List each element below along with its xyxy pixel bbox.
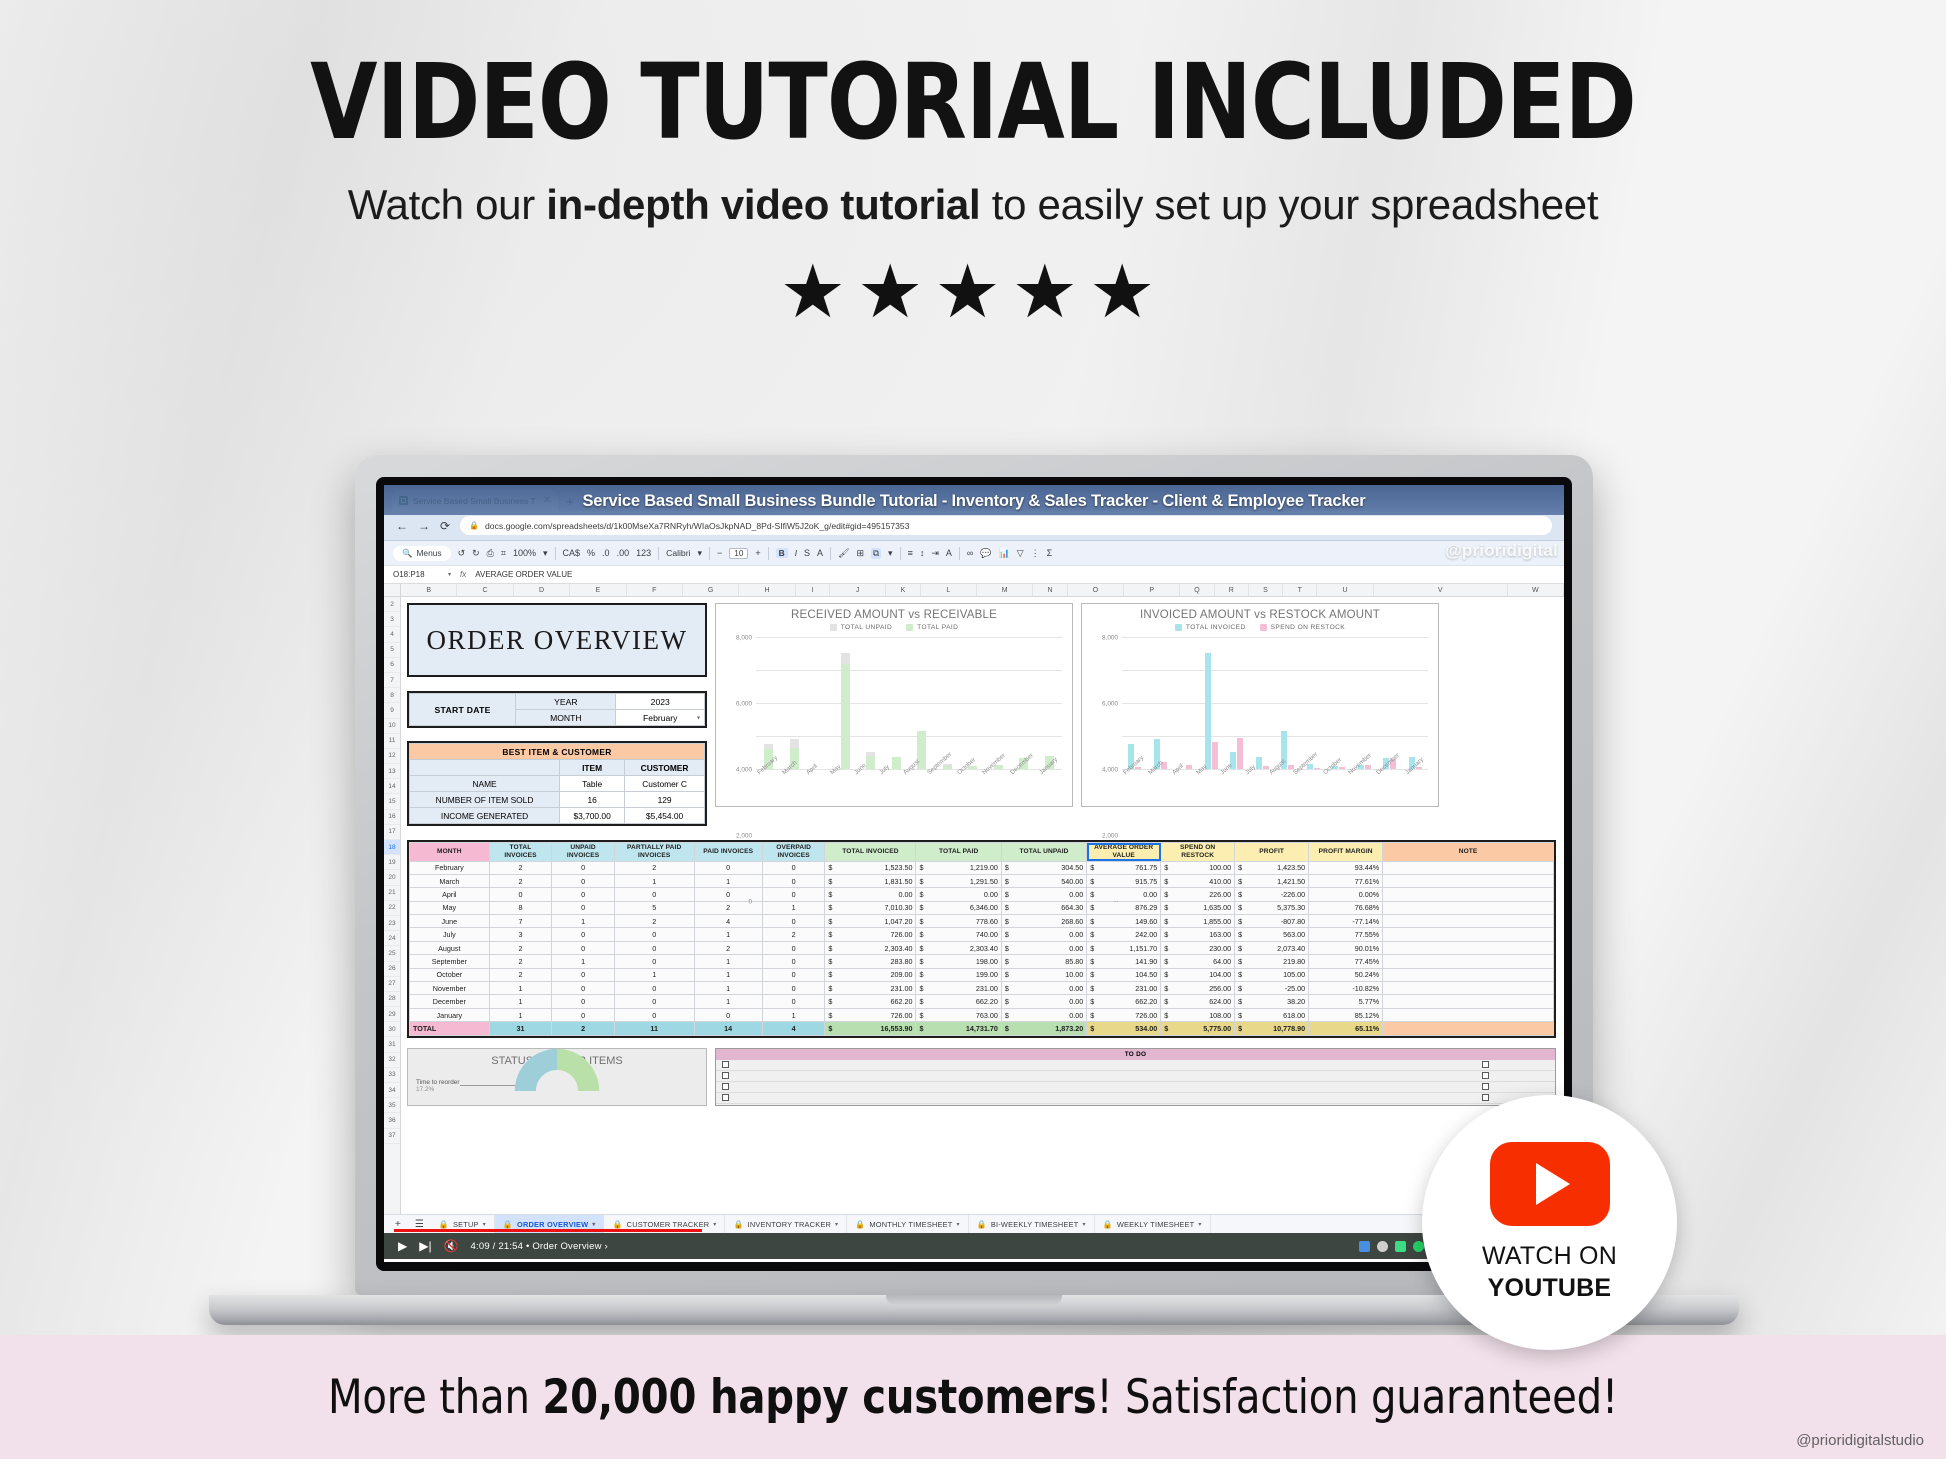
cell-profit[interactable]: -807.80 (1235, 915, 1309, 928)
print-icon[interactable]: ⎙ (487, 548, 494, 559)
cell-partially[interactable]: 2 (614, 915, 694, 928)
cell-aov[interactable]: 104.50 (1087, 968, 1161, 981)
cell-total-unpaid[interactable]: 0.00 (1001, 1008, 1086, 1021)
cell-note[interactable] (1383, 941, 1554, 954)
checkbox-icon[interactable] (1482, 1094, 1489, 1101)
whatsapp-icon[interactable] (1413, 1241, 1424, 1252)
bar-group[interactable] (1122, 637, 1148, 769)
cell-total-invoices[interactable]: 2 (489, 968, 552, 981)
cell-note[interactable] (1383, 1008, 1554, 1021)
cell-total-invoiced[interactable]: 726.00 (825, 928, 916, 941)
row-header-37[interactable]: 37 (384, 1129, 400, 1144)
mute-icon[interactable]: 🔇 (444, 1239, 459, 1253)
cell-partially[interactable]: 0 (614, 888, 694, 901)
name-box[interactable]: O18:P18 (393, 570, 439, 579)
table-row[interactable]: November10010231.00231.000.00231.00256.0… (410, 982, 1554, 995)
cell-total-invoiced[interactable]: 209.00 (825, 968, 916, 981)
row-header-25[interactable]: 25 (384, 946, 400, 961)
table-row[interactable]: August200202,303.402,303.400.001,151.702… (410, 941, 1554, 954)
checkbox-icon[interactable] (1482, 1061, 1489, 1068)
sheet-tab-bi-weekly-timesheet[interactable]: 🔒BI-WEEKLY TIMESHEET▾ (969, 1215, 1095, 1233)
cell-partially[interactable]: 0 (614, 955, 694, 968)
row-header-17[interactable]: 17 (384, 825, 400, 840)
all-sheets-icon[interactable]: ☰ (408, 1219, 431, 1230)
row-header-35[interactable]: 35 (384, 1098, 400, 1113)
todo-row[interactable] (716, 1071, 1555, 1082)
cell-restock[interactable]: 226.00 (1161, 888, 1235, 901)
table-row[interactable]: April000000.000.000.000.00226.00-226.000… (410, 888, 1554, 901)
decrease-font-size-icon[interactable]: − (717, 548, 722, 558)
column-header-i[interactable]: I (796, 584, 830, 596)
row-header-5[interactable]: 5 (384, 643, 400, 658)
cell-total-unpaid[interactable]: 0.00 (1001, 941, 1086, 954)
cell-total-invoiced[interactable]: 726.00 (825, 1008, 916, 1021)
cell-restock[interactable]: 108.00 (1161, 1008, 1235, 1021)
column-header-w[interactable]: W (1508, 584, 1564, 596)
cell-overpaid[interactable]: 0 (762, 995, 825, 1008)
cell-margin[interactable]: 90.01% (1309, 941, 1383, 954)
total-cell-paid[interactable]: 14 (694, 1022, 762, 1035)
row-header-26[interactable]: 26 (384, 962, 400, 977)
bar-group[interactable] (1199, 637, 1225, 769)
cell-paid[interactable]: 2 (694, 941, 762, 954)
cell-unpaid[interactable]: 0 (552, 888, 615, 901)
table-row[interactable]: June712401,047.20778.60268.60149.601,855… (410, 915, 1554, 928)
cell-total-paid[interactable]: 199.00 (916, 968, 1001, 981)
cell-overpaid[interactable]: 0 (762, 941, 825, 954)
cell-total-invoices[interactable]: 3 (489, 928, 552, 941)
cell-profit[interactable]: 2,073.40 (1235, 941, 1309, 954)
cell-partially[interactable]: 1 (614, 968, 694, 981)
horizontal-align-icon[interactable]: ≡ (908, 548, 913, 558)
checkbox-icon[interactable] (722, 1094, 729, 1101)
chevron-down-icon[interactable]: ▾ (888, 548, 893, 559)
chevron-down-icon[interactable]: ▾ (1082, 1221, 1085, 1228)
cell-total-paid[interactable]: 740.00 (916, 928, 1001, 941)
cell-total-paid[interactable]: 198.00 (916, 955, 1001, 968)
table-row[interactable]: January10001726.00763.000.00726.00108.00… (410, 1008, 1554, 1021)
bar-group[interactable] (858, 637, 884, 769)
strikethrough-button[interactable]: S (804, 548, 810, 558)
row-header-3[interactable]: 3 (384, 612, 400, 627)
cell-aov[interactable]: 242.00 (1087, 928, 1161, 941)
cell-restock[interactable]: 624.00 (1161, 995, 1235, 1008)
column-header-l[interactable]: L (921, 584, 977, 596)
vertical-align-icon[interactable]: ↕ (920, 548, 925, 558)
cell-total-paid[interactable]: 1,219.00 (916, 861, 1001, 874)
cell-total-invoiced[interactable]: 231.00 (825, 982, 916, 995)
cell-total-paid[interactable]: 778.60 (916, 915, 1001, 928)
total-cell-unpaid[interactable]: 2 (552, 1022, 615, 1035)
cell-total-invoiced[interactable]: 0.00 (825, 888, 916, 901)
fill-color-icon[interactable]: 🖌 (838, 548, 849, 559)
cell-total-unpaid[interactable]: 540.00 (1001, 874, 1086, 887)
percent-format-button[interactable]: % (587, 548, 595, 558)
reload-icon[interactable]: ⟳ (440, 519, 450, 533)
total-cell-overpaid[interactable]: 4 (762, 1022, 825, 1035)
bar-group[interactable] (1037, 637, 1063, 769)
cell-note[interactable] (1383, 982, 1554, 995)
chart-invoiced-vs-restock[interactable]: INVOICED AMOUNT vs RESTOCK AMOUNT TOTAL … (1081, 603, 1439, 807)
column-header-m[interactable]: M (977, 584, 1033, 596)
address-bar[interactable]: 🔒 docs.google.com/spreadsheets/d/1k00Mse… (460, 516, 1552, 535)
todo-row[interactable] (716, 1060, 1555, 1071)
insert-comment-icon[interactable]: 💬 (980, 548, 991, 559)
borders-icon[interactable]: ⊞ (857, 548, 865, 559)
text-rotation-icon[interactable]: A (946, 548, 952, 558)
search-icon[interactable] (1377, 1241, 1388, 1252)
cell-total-paid[interactable]: 231.00 (916, 982, 1001, 995)
bar-group[interactable] (833, 637, 859, 769)
column-header-j[interactable]: J (830, 584, 886, 596)
column-header-partially-paid-invoices[interactable]: PARTIALLY PAID INVOICES (614, 843, 694, 862)
cell-paid[interactable]: 1 (694, 968, 762, 981)
cell-partially[interactable]: 0 (614, 995, 694, 1008)
cell-total-invoiced[interactable]: 2,303.40 (825, 941, 916, 954)
row-header-19[interactable]: 19 (384, 855, 400, 870)
bar-group[interactable] (782, 637, 808, 769)
sheet-tab-inventory-tracker[interactable]: 🔒INVENTORY TRACKER▾ (725, 1215, 847, 1233)
cell-unpaid[interactable]: 0 (552, 928, 615, 941)
row-header-30[interactable]: 30 (384, 1022, 400, 1037)
checkbox-icon[interactable] (722, 1061, 729, 1068)
cell-aov[interactable]: 149.60 (1087, 915, 1161, 928)
cell-unpaid[interactable]: 0 (552, 1008, 615, 1021)
checkbox-icon[interactable] (722, 1083, 729, 1090)
total-cell-total-unpaid[interactable]: 1,873.20 (1001, 1022, 1086, 1035)
cell-unpaid[interactable]: 0 (552, 941, 615, 954)
font-family-select[interactable]: Calibri (666, 548, 690, 558)
total-cell-margin[interactable]: 65.11% (1309, 1022, 1383, 1035)
windows-icon[interactable] (1359, 1241, 1370, 1252)
cell-unpaid[interactable]: 0 (552, 995, 615, 1008)
bar-group[interactable] (1011, 637, 1037, 769)
cell-total-unpaid[interactable]: 664.30 (1001, 901, 1086, 914)
column-header-u[interactable]: U (1317, 584, 1373, 596)
status-of-items-panel[interactable]: STATUS OF YOUR ITEMS Time to reorder 17.… (407, 1048, 707, 1106)
row-header-20[interactable]: 20 (384, 870, 400, 885)
cell-overpaid[interactable]: 0 (762, 888, 825, 901)
todo-panel[interactable]: TO DO (715, 1048, 1556, 1106)
row-header-11[interactable]: 11 (384, 734, 400, 749)
cell-total-unpaid[interactable]: 0.00 (1001, 928, 1086, 941)
cell-aov[interactable]: 876.29 (1087, 901, 1161, 914)
column-header-p[interactable]: P (1124, 584, 1180, 596)
column-header-month[interactable]: MONTH (410, 843, 490, 862)
column-header-spend-on-restock[interactable]: SPEND ON RESTOCK (1161, 843, 1235, 862)
zoom-level[interactable]: 100% (513, 548, 536, 558)
bar-group[interactable] (1377, 637, 1403, 769)
cell-note[interactable] (1383, 874, 1554, 887)
watch-on-youtube-badge[interactable]: WATCH ON YOUTUBE (1422, 1095, 1677, 1350)
cell-margin[interactable]: 77.55% (1309, 928, 1383, 941)
cell-profit[interactable]: 5,375.30 (1235, 901, 1309, 914)
grid-corner[interactable] (384, 584, 400, 597)
cell-month[interactable]: July (410, 928, 490, 941)
column-header-profit-margin[interactable]: PROFIT MARGIN (1309, 843, 1383, 862)
undo-icon[interactable]: ↺ (458, 548, 466, 559)
row-header-15[interactable]: 15 (384, 794, 400, 809)
bar-group[interactable] (1148, 637, 1174, 769)
cell-margin[interactable]: -77.14% (1309, 915, 1383, 928)
bar-group[interactable] (935, 637, 961, 769)
currency-format-button[interactable]: CA$ (563, 548, 581, 558)
cell-note[interactable] (1383, 995, 1554, 1008)
cell-aov[interactable]: 662.20 (1087, 995, 1161, 1008)
sheet-tab-monthly-timesheet[interactable]: 🔒MONTHLY TIMESHEET▾ (847, 1215, 968, 1233)
column-header-profit[interactable]: PROFIT (1235, 843, 1309, 862)
cell-overpaid[interactable]: 1 (762, 1008, 825, 1021)
row-header-28[interactable]: 28 (384, 992, 400, 1007)
column-header-g[interactable]: G (683, 584, 739, 596)
column-header-n[interactable]: N (1033, 584, 1067, 596)
cell-total-invoiced[interactable]: 662.20 (825, 995, 916, 1008)
chevron-down-icon[interactable]: ▾ (713, 1221, 716, 1228)
cell-aov[interactable]: 915.75 (1087, 874, 1161, 887)
total-cell-restock[interactable]: 5,775.00 (1161, 1022, 1235, 1035)
cell-restock[interactable]: 163.00 (1161, 928, 1235, 941)
column-header-d[interactable]: D (514, 584, 570, 596)
checkbox-icon[interactable] (1482, 1072, 1489, 1079)
todo-row[interactable] (716, 1082, 1555, 1093)
row-header-24[interactable]: 24 (384, 931, 400, 946)
row-header-31[interactable]: 31 (384, 1037, 400, 1052)
cell-note[interactable] (1383, 955, 1554, 968)
column-header-average-order-value[interactable]: AVERAGE ORDER VALUE (1087, 843, 1161, 862)
chevron-down-icon[interactable]: ▾ (592, 1221, 595, 1228)
cell-total-invoices[interactable]: 2 (489, 861, 552, 874)
table-row[interactable]: March201101,831.501,291.50540.00915.7541… (410, 874, 1554, 887)
row-header-21[interactable]: 21 (384, 886, 400, 901)
back-icon[interactable]: ← (396, 519, 408, 533)
column-header-unpaid-invoices[interactable]: UNPAID INVOICES (552, 843, 615, 862)
cell-partially[interactable]: 0 (614, 1008, 694, 1021)
cell-month[interactable]: October (410, 968, 490, 981)
bar-group[interactable] (1326, 637, 1352, 769)
increase-decimal-icon[interactable]: .00 (617, 548, 630, 558)
row-header-18[interactable]: 18 (384, 840, 400, 855)
bar-group[interactable] (756, 637, 782, 769)
column-header-k[interactable]: K (886, 584, 920, 596)
cell-aov[interactable]: 0.00 (1087, 888, 1161, 901)
cell-month[interactable]: November (410, 982, 490, 995)
cell-month[interactable]: December (410, 995, 490, 1008)
cell-aov[interactable]: 726.00 (1087, 1008, 1161, 1021)
increase-font-size-icon[interactable]: + (755, 548, 760, 558)
cell-profit[interactable]: 1,423.50 (1235, 861, 1309, 874)
row-header-36[interactable]: 36 (384, 1113, 400, 1128)
row-header-8[interactable]: 8 (384, 688, 400, 703)
cell-paid[interactable]: 4 (694, 915, 762, 928)
formula-input[interactable]: AVERAGE ORDER VALUE (475, 570, 572, 579)
chevron-down-icon[interactable]: ▾ (835, 1221, 838, 1228)
cell-overpaid[interactable]: 0 (762, 982, 825, 995)
cell-total-invoices[interactable]: 1 (489, 995, 552, 1008)
total-cell-aov[interactable]: 534.00 (1087, 1022, 1161, 1035)
column-header-b[interactable]: B (401, 584, 457, 596)
column-header-c[interactable]: C (457, 584, 513, 596)
functions-icon[interactable]: Σ (1047, 548, 1053, 558)
row-header-9[interactable]: 9 (384, 703, 400, 718)
column-header-f[interactable]: F (627, 584, 683, 596)
next-icon[interactable]: ▶| (419, 1239, 431, 1253)
row-header-32[interactable]: 32 (384, 1053, 400, 1068)
cell-total-invoiced[interactable]: 283.80 (825, 955, 916, 968)
text-wrap-icon[interactable]: ⇥ (931, 548, 939, 559)
row-header-7[interactable]: 7 (384, 673, 400, 688)
cell-total-invoices[interactable]: 0 (489, 888, 552, 901)
cell-unpaid[interactable]: 0 (552, 968, 615, 981)
column-header-o[interactable]: O (1068, 584, 1124, 596)
cell-total-invoices[interactable]: 2 (489, 955, 552, 968)
chevron-down-icon[interactable]: ▾ (1198, 1221, 1201, 1228)
cell-note[interactable] (1383, 915, 1554, 928)
filter-icon[interactable]: ▽ (1017, 548, 1024, 559)
cell-profit[interactable]: -226.00 (1235, 888, 1309, 901)
cell-total-paid[interactable]: 662.20 (916, 995, 1001, 1008)
table-row[interactable]: July30012726.00740.000.00242.00163.00563… (410, 928, 1554, 941)
cell-paid[interactable]: 1 (694, 955, 762, 968)
font-size-input[interactable]: 10 (729, 548, 748, 559)
chevron-down-icon[interactable]: ▾ (956, 1221, 959, 1228)
chevron-down-icon[interactable]: ▾ (697, 548, 702, 559)
total-cell-partially[interactable]: 11 (614, 1022, 694, 1035)
cell-restock[interactable]: 410.00 (1161, 874, 1235, 887)
row-header-12[interactable]: 12 (384, 749, 400, 764)
cell-restock[interactable]: 256.00 (1161, 982, 1235, 995)
cell-paid[interactable]: 0 (694, 1008, 762, 1021)
cell-unpaid[interactable]: 1 (552, 915, 615, 928)
todo-row[interactable] (716, 1093, 1555, 1104)
cell-unpaid[interactable]: 0 (552, 901, 615, 914)
cell-unpaid[interactable]: 0 (552, 861, 615, 874)
total-cell-total-invoices[interactable]: 31 (489, 1022, 552, 1035)
cell-partially[interactable]: 0 (614, 928, 694, 941)
redo-icon[interactable]: ↻ (472, 548, 480, 559)
column-header-overpaid-invoices[interactable]: OVERPAID INVOICES (762, 843, 825, 862)
cell-profit[interactable]: 563.00 (1235, 928, 1309, 941)
cell-restock[interactable]: 100.00 (1161, 861, 1235, 874)
cell-aov[interactable]: 141.90 (1087, 955, 1161, 968)
chevron-down-icon[interactable]: ▾ (448, 571, 451, 578)
insert-chart-icon[interactable]: 📊 (999, 548, 1010, 559)
cell-total-invoices[interactable]: 1 (489, 1008, 552, 1021)
cell-unpaid[interactable]: 0 (552, 982, 615, 995)
column-header-e[interactable]: E (570, 584, 626, 596)
cell-month[interactable]: March (410, 874, 490, 887)
column-header-total-unpaid[interactable]: TOTAL UNPAID (1001, 843, 1086, 862)
row-header-29[interactable]: 29 (384, 1007, 400, 1022)
cell-paid[interactable]: 0 (694, 861, 762, 874)
chart-received-vs-receivable[interactable]: RECEIVED AMOUNT vs RECEIVABLE TOTAL UNPA… (715, 603, 1073, 807)
cell-overpaid[interactable]: 0 (762, 874, 825, 887)
cell-total-paid[interactable]: 763.00 (916, 1008, 1001, 1021)
bar-group[interactable] (1224, 637, 1250, 769)
bar-group[interactable] (1275, 637, 1301, 769)
cell-margin[interactable]: 77.61% (1309, 874, 1383, 887)
total-cell-total-invoiced[interactable]: 16,553.90 (825, 1022, 916, 1035)
column-header-note[interactable]: NOTE (1383, 843, 1554, 862)
cell-restock[interactable]: 230.00 (1161, 941, 1235, 954)
cell-margin[interactable]: 85.12% (1309, 1008, 1383, 1021)
row-header-27[interactable]: 27 (384, 977, 400, 992)
chevron-down-icon[interactable]: ▾ (697, 714, 700, 721)
italic-button[interactable]: I (795, 548, 797, 558)
cell-month[interactable]: April (410, 888, 490, 901)
cell-total-unpaid[interactable]: 0.00 (1001, 888, 1086, 901)
cell-total-unpaid[interactable]: 0.00 (1001, 995, 1086, 1008)
cell-total-invoiced[interactable]: 1,047.20 (825, 915, 916, 928)
cell-month[interactable]: January (410, 1008, 490, 1021)
cell-total-invoices[interactable]: 2 (489, 874, 552, 887)
cell-month[interactable]: February (410, 861, 490, 874)
cell-aov[interactable]: 1,151.70 (1087, 941, 1161, 954)
cell-partially[interactable]: 5 (614, 901, 694, 914)
cell-restock[interactable]: 1,635.00 (1161, 901, 1235, 914)
cell-month[interactable]: June (410, 915, 490, 928)
table-row[interactable]: December10010662.20662.200.00662.20624.0… (410, 995, 1554, 1008)
cell-partially[interactable]: 0 (614, 941, 694, 954)
bar-group[interactable] (1250, 637, 1276, 769)
cell-profit[interactable]: 105.00 (1235, 968, 1309, 981)
cell-month[interactable]: August (410, 941, 490, 954)
row-header-13[interactable]: 13 (384, 764, 400, 779)
total-cell-profit[interactable]: 10,778.90 (1235, 1022, 1309, 1035)
cell-paid[interactable]: 1 (694, 995, 762, 1008)
column-header-s[interactable]: S (1249, 584, 1283, 596)
column-header-h[interactable]: H (739, 584, 795, 596)
cell-margin[interactable]: 77.45% (1309, 955, 1383, 968)
cell-partially[interactable]: 0 (614, 982, 694, 995)
cell-profit[interactable]: 618.00 (1235, 1008, 1309, 1021)
cell-total-invoices[interactable]: 7 (489, 915, 552, 928)
row-header-4[interactable]: 4 (384, 627, 400, 642)
table-row[interactable]: May805217,010.306,346.00664.30876.291,63… (410, 901, 1554, 914)
cell-overpaid[interactable]: 0 (762, 968, 825, 981)
checkbox-icon[interactable] (722, 1072, 729, 1079)
cell-month[interactable]: September (410, 955, 490, 968)
menus-button[interactable]: 🔍 Menus (393, 546, 451, 561)
decrease-decimal-icon[interactable]: .0 (602, 548, 610, 558)
cell-overpaid[interactable]: 0 (762, 915, 825, 928)
column-header-v[interactable]: V (1374, 584, 1508, 596)
sheet-tab-weekly-timesheet[interactable]: 🔒WEEKLY TIMESHEET▾ (1095, 1215, 1211, 1233)
chevron-down-icon[interactable]: ▾ (483, 1221, 486, 1228)
text-color-button[interactable]: A (817, 548, 823, 558)
row-header-33[interactable]: 33 (384, 1068, 400, 1083)
column-header-paid-invoices[interactable]: PAID INVOICES (694, 843, 762, 862)
add-sheet-icon[interactable]: + (388, 1219, 408, 1230)
app-icon[interactable] (1395, 1241, 1406, 1252)
cell-paid[interactable]: 1 (694, 982, 762, 995)
cell-restock[interactable]: 64.00 (1161, 955, 1235, 968)
year-value[interactable]: 2023 (616, 694, 705, 710)
cell-total-invoices[interactable]: 2 (489, 941, 552, 954)
cell-total-paid[interactable]: 1,291.50 (916, 874, 1001, 887)
cell-unpaid[interactable]: 1 (552, 955, 615, 968)
cell-profit[interactable]: 1,421.50 (1235, 874, 1309, 887)
cell-total-unpaid[interactable]: 10.00 (1001, 968, 1086, 981)
cell-total-unpaid[interactable]: 85.80 (1001, 955, 1086, 968)
cell-profit[interactable]: 219.80 (1235, 955, 1309, 968)
cell-margin[interactable]: 50.24% (1309, 968, 1383, 981)
cell-profit[interactable]: -25.00 (1235, 982, 1309, 995)
cell-note[interactable] (1383, 861, 1554, 874)
bar-group[interactable] (884, 637, 910, 769)
bar-group[interactable] (1301, 637, 1327, 769)
bar-group[interactable] (909, 637, 935, 769)
cell-overpaid[interactable]: 0 (762, 861, 825, 874)
